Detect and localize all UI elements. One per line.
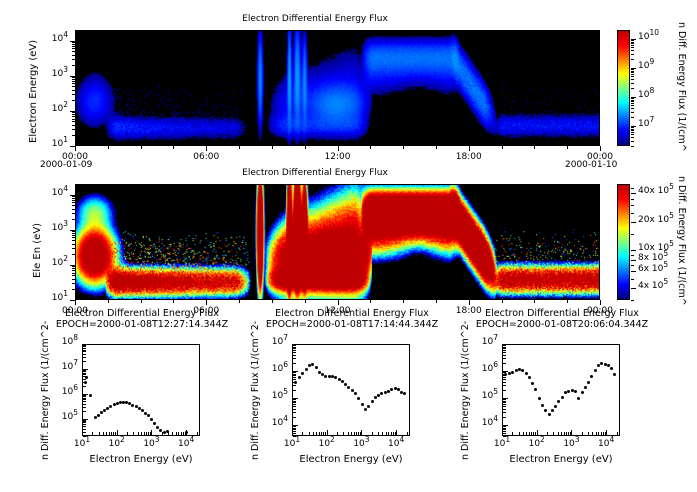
x-minor-tick [305,146,306,149]
x-minor-tick [338,146,339,149]
spectrum-3-x-minor-tick [547,432,548,436]
spectrum-2-y-minor-tick [293,348,296,349]
spectrum-2-x-minor-tick [354,432,355,436]
spectrum-3-y-minor-tick [503,382,506,383]
spectrum-1-x-minor-tick [109,432,110,436]
spectrum-3-x-minor-tick [561,432,562,436]
spectrum-3-y-minor-tick [503,374,506,375]
x-tick-label: 12:00 [313,152,363,162]
spectrum-data-point [544,409,547,412]
spectrum-1-y-minor-tick [83,386,86,387]
spectrum-3-y-minor-tick [503,404,506,405]
spectrum-2-x-minor-tick [360,432,361,436]
y-tick-label: 104 [42,34,68,44]
spectrum-1-x-minor-tick [99,432,100,436]
spectrum-data-point [521,369,524,372]
spectrum-1-y-minor-tick [83,374,86,375]
x-minor-tick [469,146,470,149]
spectrum-3-y-minor-tick [503,409,506,410]
spectrum-data-point [534,388,537,391]
spectrum-data-point [351,389,354,392]
colorbar-minor-tick [631,234,634,235]
y-minor-tick [72,119,75,120]
spectrum-1-x-minor-tick [103,432,104,436]
colorbar-minor-tick [631,72,634,73]
spectrum-3-y-minor-tick [503,377,506,378]
spectrum-data-point [347,386,350,389]
spectrum-1-ylabel: n Diff. Energy Flux (1/(cm^2- [40,321,51,460]
spectrum-data-point [538,397,541,400]
spectrum-data-point [380,392,383,395]
spectrum-2-x-minor-tick [302,432,303,436]
spectrum-data-point [594,369,597,372]
spectrum-1-y-tick-label: 105 [52,412,78,422]
spectrum-1-x-minor-tick [168,432,169,436]
spectrum-1-y-minor-tick [83,354,86,355]
spectrum-2-y-minor-tick [293,417,296,418]
y-minor-tick [72,135,75,136]
panel-1-title: Electron Differential Energy Flux [175,14,455,24]
colorbar-minor-tick [631,130,634,131]
spectrum-1-x-tick-mark [151,430,152,436]
x-minor-tick [338,300,339,303]
colorbar-minor-tick [631,59,634,60]
spectrum-2-x-tick-mark [361,430,362,436]
spectrum-1-y-minor-tick [83,350,86,351]
spectrum-1-y-tick-label: 107 [52,362,78,372]
x-tick-mark [600,146,601,151]
spectrum-2-ylabel: n Diff. Energy Flux (1/(cm^2- [250,321,261,460]
spectrum-3-x-minor-tick [570,432,571,436]
spectrum-1-x-minor-tick [181,432,182,436]
colorbar-minor-tick [631,205,634,206]
spectrum-2-x-minor-tick [316,432,317,436]
colorbar-tick-label: 6x 105 [638,264,668,274]
spectrum-3-y-minor-tick [503,412,506,413]
spectrum-2-xlabel: Electron Energy (eV) [271,454,431,465]
panel-1-date-right: 2000-01-10 [565,160,617,170]
y-minor-tick [72,112,75,113]
spectrum-2-y-minor-tick [293,358,296,359]
spectrum-2-x-minor-tick [351,432,352,436]
spectrum-1-y-minor-tick [83,370,86,371]
spectrum-3-xlabel: Electron Energy (eV) [481,454,641,465]
spectrum-data-point [561,396,564,399]
x-minor-tick [206,300,207,303]
spectrum-3-x-minor-tick [564,432,565,436]
spectrum-2-y-minor-tick [293,372,296,373]
x-minor-tick [272,300,273,303]
spectrum-2-x-tick-label: 103 [345,439,377,449]
spectrum-3-y-minor-tick [503,375,506,376]
colorbar-minor-tick [631,83,634,84]
spectrum-1-x-tick-label: 102 [101,439,133,449]
spectrum-2-x-minor-tick [386,432,387,436]
spectrum-data-point [334,376,337,379]
spectrum-3-x-minor-tick [605,432,606,436]
spectrum-2-x-minor-tick [348,432,349,436]
y-minor-tick [72,240,75,241]
spectrum-data-point [577,397,580,400]
spectrum-2-x-minor-tick [325,432,326,436]
y-minor-tick [72,266,75,267]
spectrum-2-x-minor-tick [372,432,373,436]
spectrum-2-y-minor-tick [293,409,296,410]
y-minor-tick [72,200,75,201]
y-minor-tick [72,270,75,271]
colorbar-minor-tick [631,213,634,214]
spectrum-3-x-tick-label: 101 [486,439,518,449]
panel-1-colorbar-label: n Diff. Energy Flux (1/(cm^ [676,22,687,152]
panel-1-ylabel: Electron Energy (eV) [28,40,39,143]
spectrum-data-point [153,422,156,425]
spectrum-data-point [567,390,570,393]
spectrum-3-y-minor-tick [503,429,506,430]
y-tick-label: 104 [42,188,68,198]
x-minor-tick [534,146,535,149]
spectrum-1-y-minor-tick [83,373,86,374]
spectrum-3-x-tick-label: 102 [521,439,553,449]
spectrum-1-y-minor-tick [83,424,86,425]
y-minor-tick [72,219,75,220]
spectrum-data-point [525,372,528,375]
colorbar-tick-mark [631,222,636,223]
spectrum-data-point [315,366,318,369]
spectrum-1-x-minor-tick [162,432,163,436]
spectrum-3-y-minor-tick [503,350,506,351]
spectrum-data-point [600,362,603,365]
spectrum-1-x-tick-mark [186,430,187,436]
spectrum-1-x-minor-tick [111,432,112,436]
colorbar-minor-tick [631,43,634,44]
spectrum-1-plot-area [82,344,200,436]
spectrum-2-x-minor-tick [391,432,392,436]
y-minor-tick [72,55,75,56]
x-tick-label: 06:00 [181,152,231,162]
spectrum-1-x-minor-tick [197,432,198,436]
colorbar-minor-tick [631,146,634,147]
spectrum-3-y-minor-tick [503,406,506,407]
spectrum-3-y-minor-tick [503,363,506,364]
spectrum-3-y-minor-tick [503,372,506,373]
spectrum-1-y-minor-tick [83,382,86,383]
colorbar-tick-mark [631,271,636,272]
spectrum-1-y-minor-tick [83,398,86,399]
colorbar-minor-tick [631,134,634,135]
colorbar-minor-tick [631,132,634,133]
spectrum-3-y-minor-tick [503,379,506,380]
colorbar-minor-tick [631,74,634,75]
x-minor-tick [436,300,437,303]
y-minor-tick [72,209,75,210]
spectrum-3-x-minor-tick [523,432,524,436]
x-minor-tick [305,300,306,303]
colorbar-minor-tick [631,141,634,142]
y-minor-tick [72,79,75,80]
spectrum-2-x-minor-tick [356,432,357,436]
spectrum-1-y-minor-tick [83,351,86,352]
panel-2-plot-area [75,184,600,300]
panel-2-colorbar [617,184,630,300]
colorbar-minor-tick [631,101,634,102]
x-minor-tick [534,300,535,303]
x-minor-tick [141,146,142,149]
spectrum-3-y-minor-tick [503,358,506,359]
spectrum-data-point [150,418,153,421]
y-minor-tick [72,86,75,87]
spectrum-data-point [324,375,327,378]
spectrum-2-y-minor-tick [293,402,296,403]
spectrum-2-y-tick-label: 106 [262,364,288,374]
y-minor-tick [72,116,75,117]
spectrum-data-point [587,381,590,384]
x-minor-tick [173,146,174,149]
y-minor-tick [72,275,75,276]
panel-1-colorbar [617,30,630,146]
y-minor-tick [72,289,75,290]
x-minor-tick [141,300,142,303]
y-minor-tick [72,235,75,236]
colorbar-tick-mark [631,288,636,289]
spectrum-3-x-minor-tick [526,432,527,436]
y-minor-tick [72,233,75,234]
spectrum-3-y-minor-tick [503,385,506,386]
colorbar-minor-tick [631,127,634,128]
spectrum-data-point [531,382,534,385]
colorbar-tick-label: 4x 105 [638,281,668,291]
y-minor-tick [72,129,75,130]
spectrum-2-x-minor-tick [319,432,320,436]
spectrum-1-x-minor-tick [138,432,139,436]
colorbar-tick-mark [631,250,636,251]
spectrum-2-x-minor-tick [378,432,379,436]
colorbar-tick-label: 107 [638,119,654,129]
spectrum-2-y-minor-tick [293,404,296,405]
y-minor-tick [72,83,75,84]
spectrum-2-x-minor-tick [321,432,322,436]
colorbar-minor-tick [631,88,634,89]
colorbar-tick-label: 40x 105 [638,186,674,196]
spectrum-2-y-minor-tick [293,382,296,383]
spectrum-data-point [131,404,134,407]
colorbar-tick-label: 108 [638,90,654,100]
spectrum-2-y-minor-tick [293,390,296,391]
y-tick-label: 102 [42,104,68,114]
spectrum-3-y-minor-tick [503,431,506,432]
x-minor-tick [370,146,371,149]
spectrum-2-y-minor-tick [293,374,296,375]
spectrum-1-y-minor-tick [83,421,86,422]
spectrum-data-point [584,386,587,389]
spectrum-3-y-tick-label: 104 [472,418,498,428]
spectrum-1-x-minor-tick [146,432,147,436]
spectrum-1-y-minor-tick [83,404,86,405]
spectrum-2-y-minor-tick [293,401,296,402]
spectrum-2-y-minor-tick [293,385,296,386]
spectrum-data-point [548,413,551,416]
spectrum-data-point [311,363,314,366]
spectrum-3-x-minor-tick [553,432,554,436]
spectrum-2-x-tick-mark [327,430,328,436]
spectrum-data-point [403,392,406,395]
spectrum-data-point [574,390,577,393]
colorbar-minor-tick [631,54,634,55]
spectrum-3-x-minor-tick [592,432,593,436]
spectrum-2-y-minor-tick [293,345,296,346]
spectrum-2-x-minor-tick [337,432,338,436]
x-minor-tick [502,146,503,149]
spectrum-3-x-tick-label: 104 [590,439,622,449]
x-minor-tick [370,300,371,303]
x-minor-tick [75,146,76,149]
spectrum-1-y-minor-tick [83,348,86,349]
spectrum-data-point [528,376,531,379]
colorbar-minor-tick [631,40,634,41]
spectrum-data-point [554,405,557,408]
spectrum-3-y-minor-tick [503,426,506,427]
spectrum-3-x-tick-mark [502,430,503,436]
x-minor-tick [108,146,109,149]
colorbar-minor-tick [631,279,634,280]
spectrum-1-y-minor-tick [83,411,86,412]
colorbar-minor-tick [631,69,634,70]
y-minor-tick [72,59,75,60]
spectrum-3-y-minor-tick [503,352,506,353]
spectrum-1-y-minor-tick [83,395,86,396]
spectrum-1-y-minor-tick [83,396,86,397]
y-minor-tick [72,65,75,66]
colorbar-minor-tick [631,265,634,266]
colorbar-tick-mark [631,193,636,194]
colorbar-tick-label: 8x 105 [638,253,668,263]
spectrum-data-point [357,397,360,400]
spectrum-data-point [354,392,357,395]
spectrum-1-y-minor-tick [83,420,86,421]
x-minor-tick [206,146,207,149]
y-minor-tick [72,114,75,115]
spectrum-3-y-minor-tick [503,348,506,349]
spectrum-3-y-minor-tick [503,345,506,346]
spectrum-1-y-tick-label: 106 [52,387,78,397]
panel-1-date-left: 2000-01-09 [40,160,92,170]
x-minor-tick [239,300,240,303]
colorbar-minor-tick [631,50,634,51]
x-minor-tick [567,300,568,303]
colorbar-tick-label: 1010 [638,32,659,42]
spectrum-2-x-minor-tick [309,432,310,436]
y-tick-label: 103 [42,223,68,233]
spectrum-2-y-minor-tick [293,399,296,400]
panel-1-plot-area [75,30,600,146]
spectrum-data-point [541,404,544,407]
spectrum-data-point [100,411,103,414]
spectrum-1-y-minor-tick [83,379,86,380]
spectrum-data-point [367,405,370,408]
colorbar-minor-tick [631,112,634,113]
spectrum-3-x-minor-tick [558,432,559,436]
spectrum-2-y-minor-tick [293,352,296,353]
spectrum-2-x-minor-tick [388,432,389,436]
spectrum-1-y-minor-tick [83,407,86,408]
spectrum-2-x-tick-label: 104 [380,439,412,449]
spectrum-3-x-minor-tick [617,432,618,436]
spectrum-2-x-tick-label: 102 [311,439,343,449]
panel-1-colorbar-gradient [618,31,629,145]
y-minor-tick [72,44,75,45]
y-minor-tick [72,125,75,126]
x-minor-tick [403,300,404,303]
spectrum-2-x-minor-tick [313,432,314,436]
y-minor-tick [72,196,75,197]
spectrum-3-x-tick-mark [537,430,538,436]
spectrum-2-y-minor-tick [293,426,296,427]
y-tick-label: 103 [42,69,68,79]
spectrum-1-x-tick-label: 101 [66,439,98,449]
spectrum-3-y-minor-tick [503,355,506,356]
spectrum-2-y-minor-tick [293,428,296,429]
spectrum-data-point [581,391,584,394]
y-minor-tick [72,237,75,238]
spectrum-2-y-minor-tick [293,429,296,430]
spectrum-2-y-tick-label: 107 [262,337,288,347]
spectrum-data-point [361,403,364,406]
x-minor-tick [239,146,240,149]
colorbar-minor-tick [631,42,634,43]
spectrum-data-point [301,372,304,375]
y-minor-tick [72,254,75,255]
spectrum-3-x-tick-mark [606,430,607,436]
spectrum-data-point [511,371,514,374]
spectrum-3-y-minor-tick [503,347,506,348]
spectrum-3-x-minor-tick [512,432,513,436]
spectrum-2-x-tick-mark [396,430,397,436]
spectrum-1-x-minor-tick [127,432,128,436]
y-minor-tick [72,205,75,206]
spectrum-data-point [551,409,554,412]
x-minor-tick [272,146,273,149]
spectrum-2-y-minor-tick [293,375,296,376]
spectrum-1-y-minor-tick [83,399,86,400]
spectrum-data-point [305,368,308,371]
colorbar-minor-tick [631,300,634,301]
spectrum-2-y-minor-tick [293,363,296,364]
spectrum-3-y-minor-tick [503,417,506,418]
spectrum-data-point [147,414,150,417]
x-minor-tick [469,300,470,303]
spectrum-3-title: Electron Differential Energy Flux [427,308,697,319]
y-minor-tick [72,100,75,101]
spectrum-1-y-minor-tick [83,345,86,346]
spectrum-3-y-tick-label: 107 [472,337,498,347]
y-minor-tick [72,77,75,78]
spectrum-1-x-tick-mark [82,430,83,436]
spectrum-1-x-tick-label: 103 [135,439,167,449]
y-minor-tick [72,42,75,43]
colorbar-minor-tick [631,199,634,200]
spectrum-1-x-tick-mark [117,430,118,436]
spectrum-2-y-minor-tick [293,431,296,432]
spectrum-1-x-minor-tick [178,432,179,436]
y-minor-tick [72,51,75,52]
spectrum-data-point [508,372,511,375]
spectrum-3-x-tick-label: 103 [555,439,587,449]
colorbar-minor-tick [631,100,634,101]
spectrum-3-x-minor-tick [531,432,532,436]
spectrum-1-y-minor-tick [83,401,86,402]
y-minor-tick [72,279,75,280]
spectrum-1-y-minor-tick [83,357,86,358]
colorbar-minor-tick [631,98,634,99]
